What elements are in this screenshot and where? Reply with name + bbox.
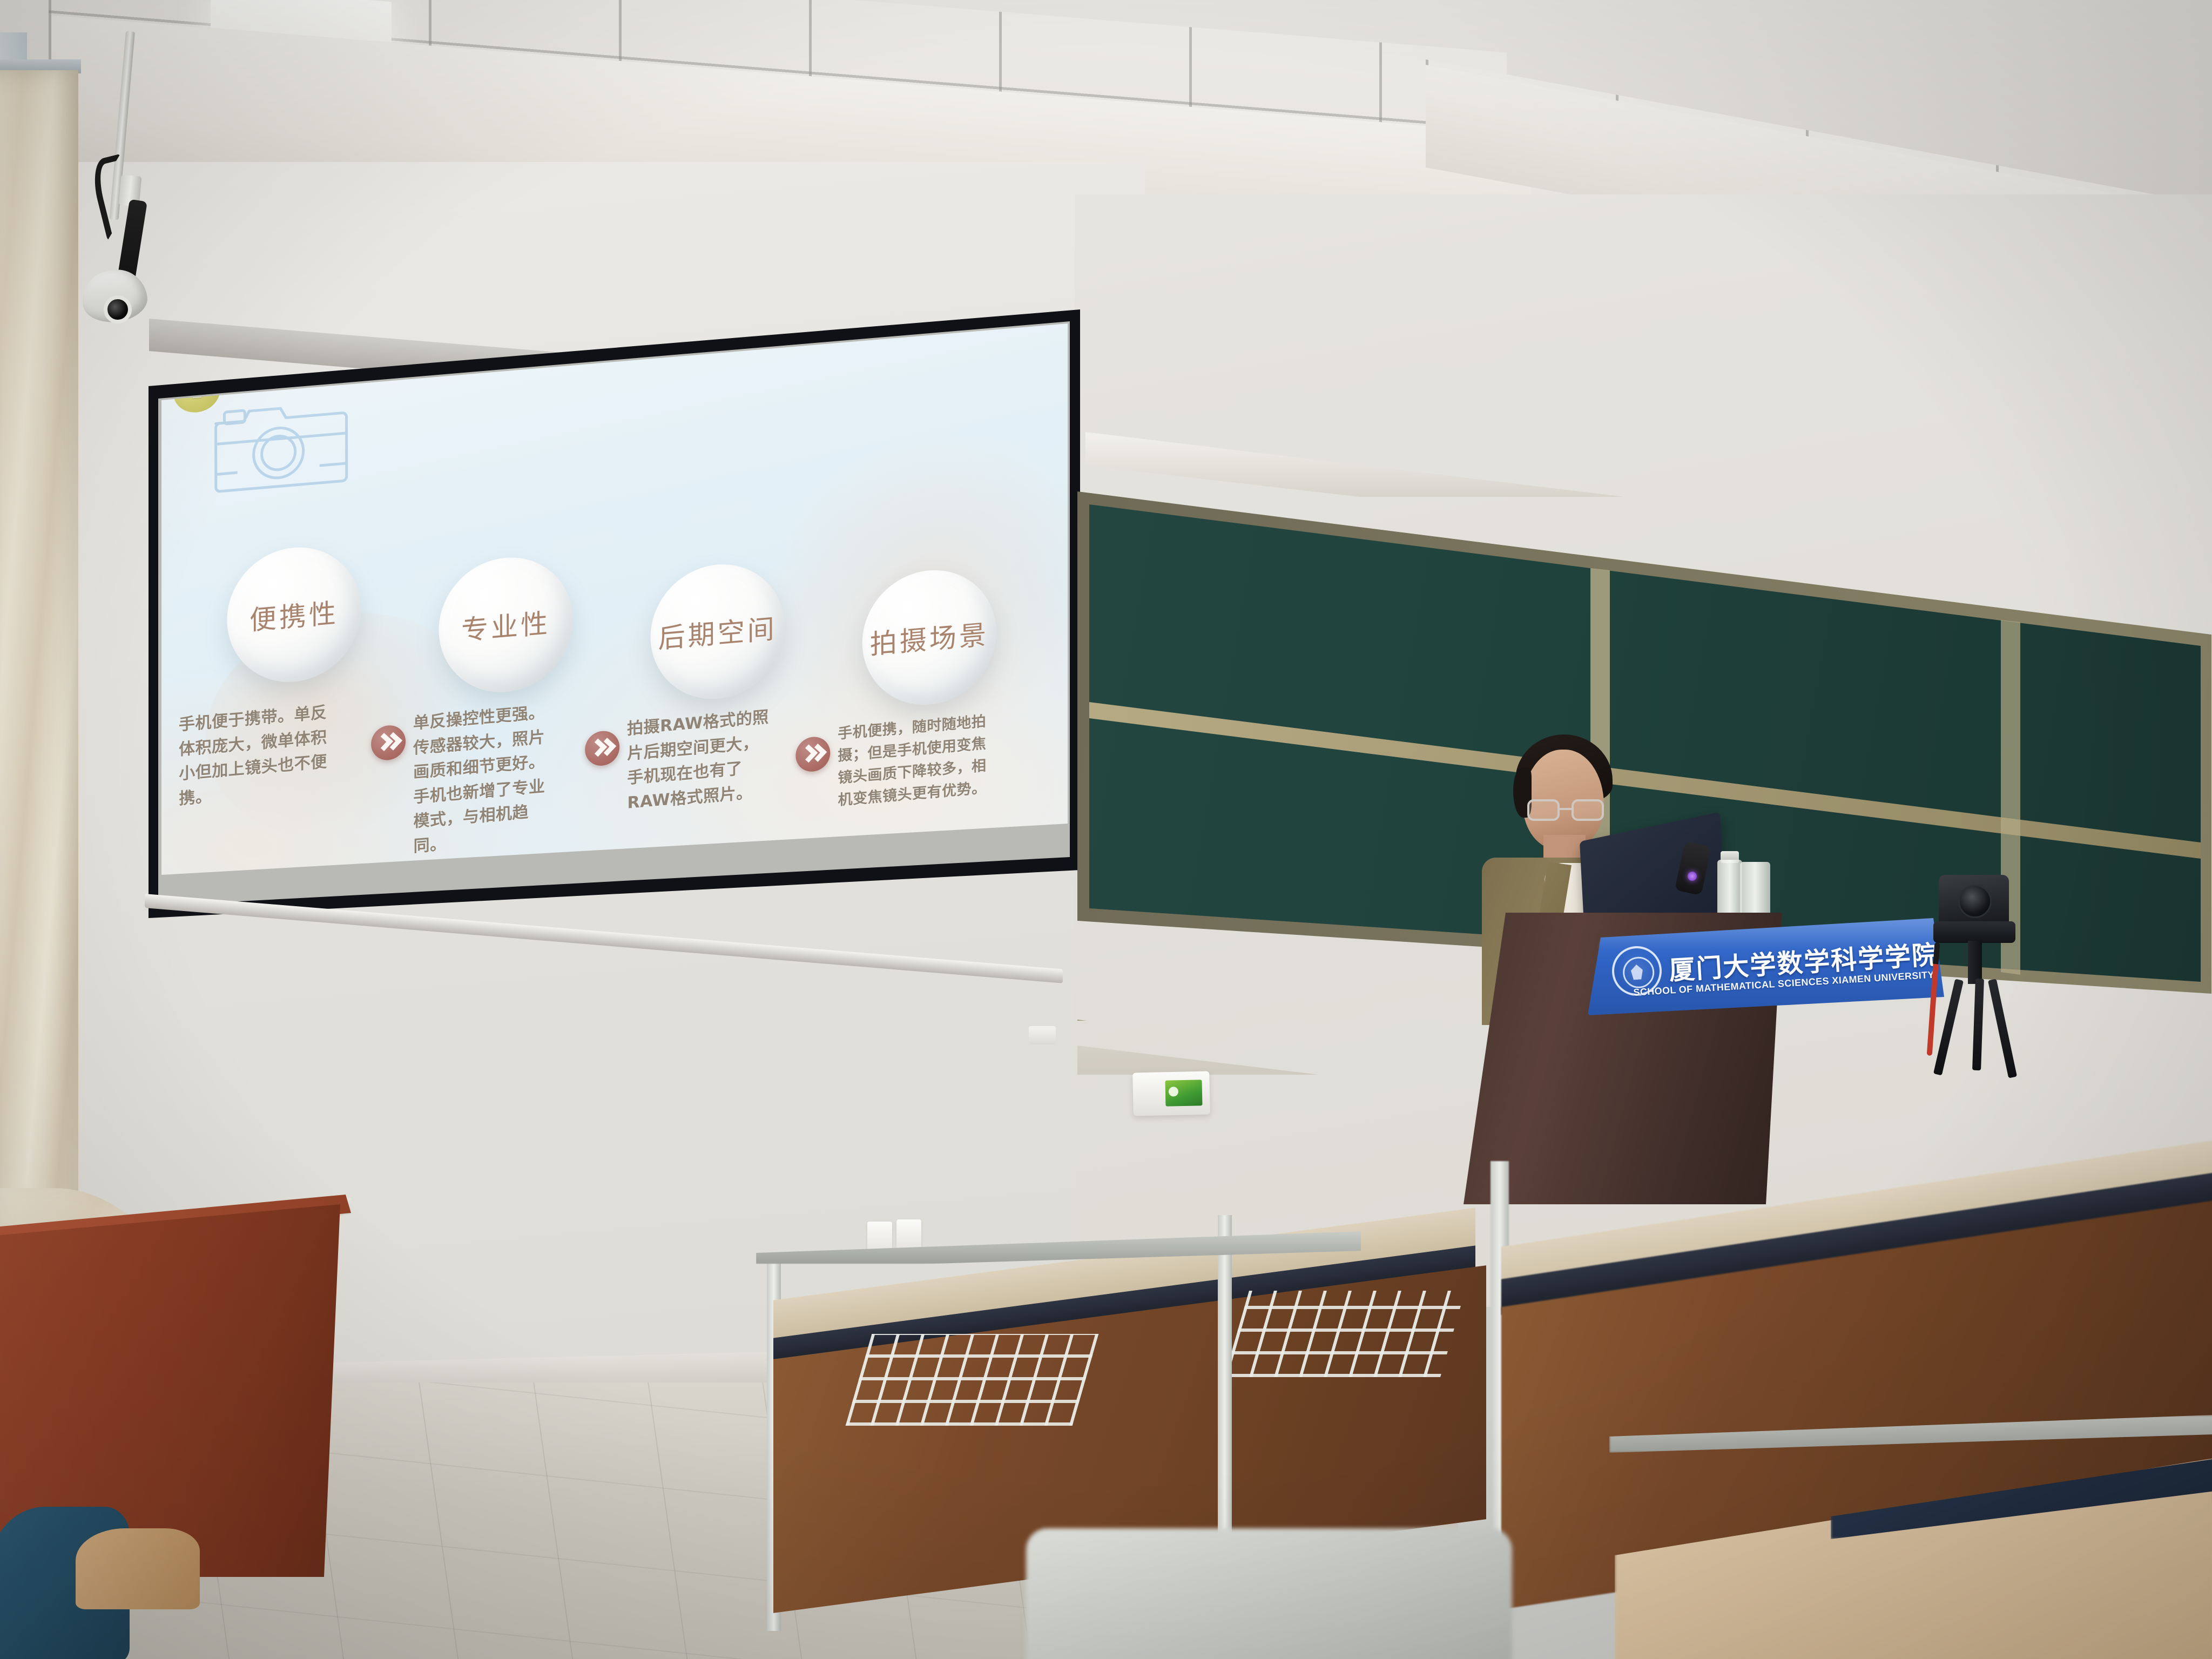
slide-block-text: 手机便于携带。单反体积庞大，微单体积小但加上镜头也不便携。 (179, 700, 331, 811)
slide-block-text: 拍摄RAW格式的照片后期空间更大，手机现在也有了RAW格式照片。 (627, 705, 772, 815)
chevron-double-right-icon (371, 724, 406, 761)
bench-leg (1218, 1215, 1232, 1582)
book-basket (1224, 1291, 1465, 1377)
slide-block-2: 拍摄RAW格式的照片后期空间更大，手机现在也有了RAW格式照片。 (585, 705, 772, 819)
projection-screen[interactable]: 1 便携性 专业性 后期空间 拍摄场景 (138, 305, 1088, 921)
window-curtain (0, 70, 78, 1253)
slide-block-1: 单反操控性更强。传感器较大，照片画质和细节更好。手机也新增了专业模式，与相机趋同… (371, 699, 558, 863)
dispenser-label-icon (1165, 1080, 1203, 1106)
slide-block-0: 手机便于携带。单反体积庞大，微单体积小但加上镜头也不便携。 (179, 700, 331, 811)
glasses-bridge (1560, 808, 1572, 810)
slide-block-text: 单反操控性更强。传感器较大，照片画质和细节更好。手机也新增了专业模式，与相机趋同… (413, 699, 558, 859)
ptz-camera-base (1933, 921, 2015, 943)
slide-circle-label: 后期空间 (658, 607, 777, 656)
slide-circle-label: 专业性 (461, 602, 550, 648)
chevron-double-right-icon (585, 730, 619, 767)
camera-lens-icon (1958, 885, 1992, 918)
glasses-lens-left (1527, 799, 1560, 821)
slide-block-text: 手机便携，随时随地拍摄；但是手机使用变焦镜头画质下降较多，相机变焦镜头更有优势。 (838, 709, 1000, 812)
slide-circle-label: 便携性 (249, 591, 339, 638)
projected-slide: 1 便携性 专业性 后期空间 拍摄场景 (138, 305, 1088, 921)
lecture-hall-photo: 1 便携性 专业性 后期空间 拍摄场景 (0, 0, 2212, 1659)
slide-block-3: 手机便携，随时随地拍摄；但是手机使用变焦镜头画质下降较多，相机变焦镜头更有优势。 (795, 709, 1000, 815)
wooden-seat (76, 1528, 200, 1609)
foreground-chair (1026, 1528, 1512, 1659)
slide-circle-0: 便携性 (227, 542, 361, 687)
camera-outline-icon (209, 386, 349, 501)
tripod-column (1968, 941, 1982, 984)
microphone-led-indicator (1688, 872, 1697, 881)
glasses-icon (1527, 799, 1606, 822)
wall-socket[interactable] (1029, 1026, 1056, 1044)
glasses-lens-right (1572, 799, 1604, 821)
book-basket (846, 1334, 1099, 1426)
chevron-double-right-icon (795, 736, 830, 773)
